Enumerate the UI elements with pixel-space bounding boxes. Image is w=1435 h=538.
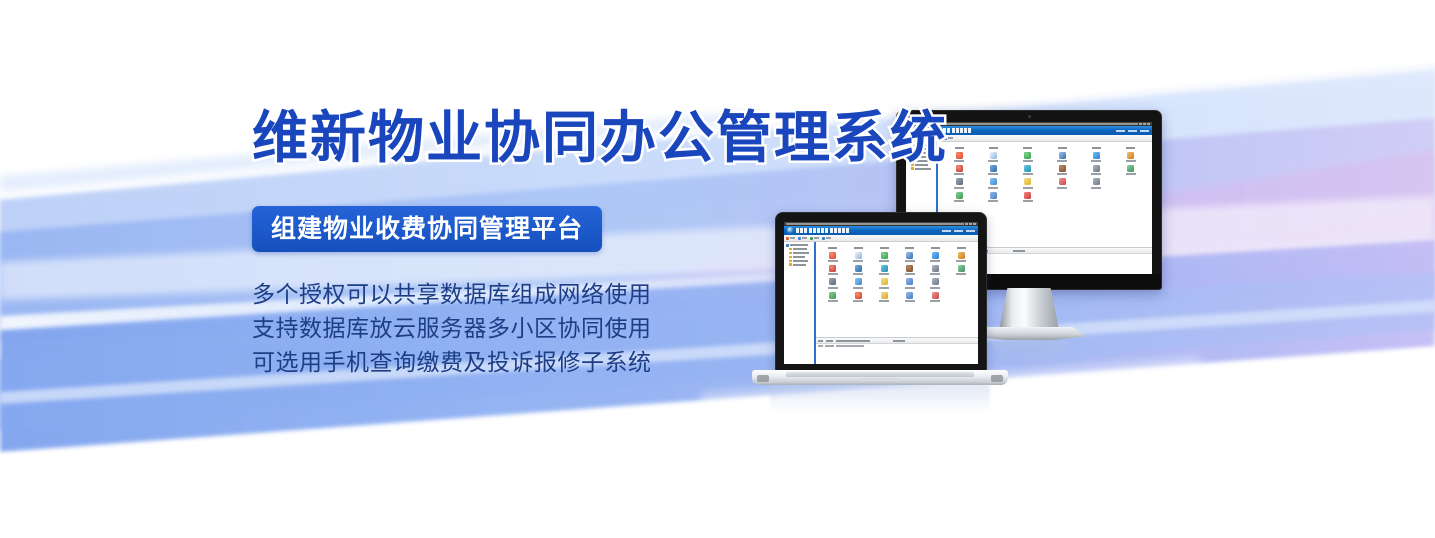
module-icon-cell[interactable]: [976, 152, 1010, 162]
app-header-links[interactable]: [1116, 130, 1149, 132]
grid-column-header: [1114, 146, 1148, 149]
module-icon-cell[interactable]: [942, 178, 976, 188]
module-icon-cell[interactable]: [923, 252, 949, 262]
module-icon-cell[interactable]: [1114, 152, 1148, 162]
module-icon-cell[interactable]: [1045, 165, 1079, 175]
module-icon-cell[interactable]: [942, 192, 976, 202]
page-title: 维新物业协同办公管理系统: [252, 110, 948, 169]
module-icon-cell[interactable]: [976, 192, 1010, 202]
module-icon-cell[interactable]: [1079, 178, 1113, 188]
module-icon-cell[interactable]: [976, 165, 1010, 175]
monitor-camera-icon: [1028, 115, 1031, 118]
module-icon-cell-empty: [1114, 192, 1148, 202]
grid-column-header: [897, 246, 923, 249]
sub-banner-badge: 组建物业收费协同管理平台: [252, 206, 602, 252]
minimize-icon[interactable]: [1139, 123, 1142, 125]
module-icon-cell[interactable]: [897, 292, 923, 302]
feature-item: 多个授权可以共享数据库组成网络使用: [252, 278, 892, 312]
module-icon-cell[interactable]: [1011, 152, 1045, 162]
app-header-links[interactable]: [942, 230, 975, 232]
close-icon[interactable]: [1147, 123, 1150, 125]
maximize-icon[interactable]: [1143, 123, 1146, 125]
grid-column-header: [1079, 146, 1113, 149]
grid-column-header: [948, 246, 974, 249]
feature-item: 支持数据库放云服务器多小区协同使用: [252, 312, 892, 346]
module-icon-cell[interactable]: [923, 278, 949, 288]
module-icon-cell[interactable]: [1079, 165, 1113, 175]
module-icon-cell[interactable]: [1011, 165, 1045, 175]
module-icon-cell[interactable]: [923, 265, 949, 275]
close-icon[interactable]: [973, 223, 976, 225]
module-icon-cell[interactable]: [1011, 178, 1045, 188]
grid-column-header: [1045, 146, 1079, 149]
module-icon-cell[interactable]: [1011, 192, 1045, 202]
module-icon-cell-empty: [948, 278, 974, 288]
grid-column-header: [976, 146, 1010, 149]
banner-text-block: 维新物业协同办公管理系统 维新物业协同办公管理系统 组建物业收费协同管理平台 多…: [252, 110, 892, 380]
module-icon-cell[interactable]: [1045, 152, 1079, 162]
minimize-icon[interactable]: [965, 223, 968, 225]
module-icon-cell[interactable]: [897, 278, 923, 288]
module-icon-cell-empty: [1045, 192, 1079, 202]
module-icon-cell[interactable]: [976, 178, 1010, 188]
grid-column-header: [1011, 146, 1045, 149]
feature-list: 多个授权可以共享数据库组成网络使用 支持数据库放云服务器多小区协同使用 可选用手…: [252, 278, 892, 380]
module-icon-cell[interactable]: [1114, 165, 1148, 175]
module-icon-cell[interactable]: [897, 252, 923, 262]
module-icon-cell-empty: [948, 292, 974, 302]
maximize-icon[interactable]: [969, 223, 972, 225]
module-icon-cell[interactable]: [1079, 152, 1113, 162]
module-icon-cell[interactable]: [897, 265, 923, 275]
laptop-reflection: [770, 385, 990, 413]
module-icon-cell[interactable]: [1045, 178, 1079, 188]
module-icon-cell-empty: [1114, 178, 1148, 188]
promo-banner: 维新物业协同办公管理系统 维新物业协同办公管理系统 组建物业收费协同管理平台 多…: [0, 0, 1435, 538]
main-title-wrapper: 维新物业协同办公管理系统 维新物业协同办公管理系统: [252, 110, 892, 182]
module-icon-cell[interactable]: [948, 265, 974, 275]
module-icon-cell[interactable]: [923, 292, 949, 302]
monitor-stand-neck: [999, 288, 1059, 330]
module-icon-cell[interactable]: [948, 252, 974, 262]
laptop-foot-right: [991, 375, 1003, 382]
module-icon-cell-empty: [1079, 192, 1113, 202]
grid-column-header: [923, 246, 949, 249]
feature-item: 可选用手机查询缴费及投诉报修子系统: [252, 346, 892, 380]
sub-banner-label: 组建物业收费协同管理平台: [271, 214, 583, 243]
